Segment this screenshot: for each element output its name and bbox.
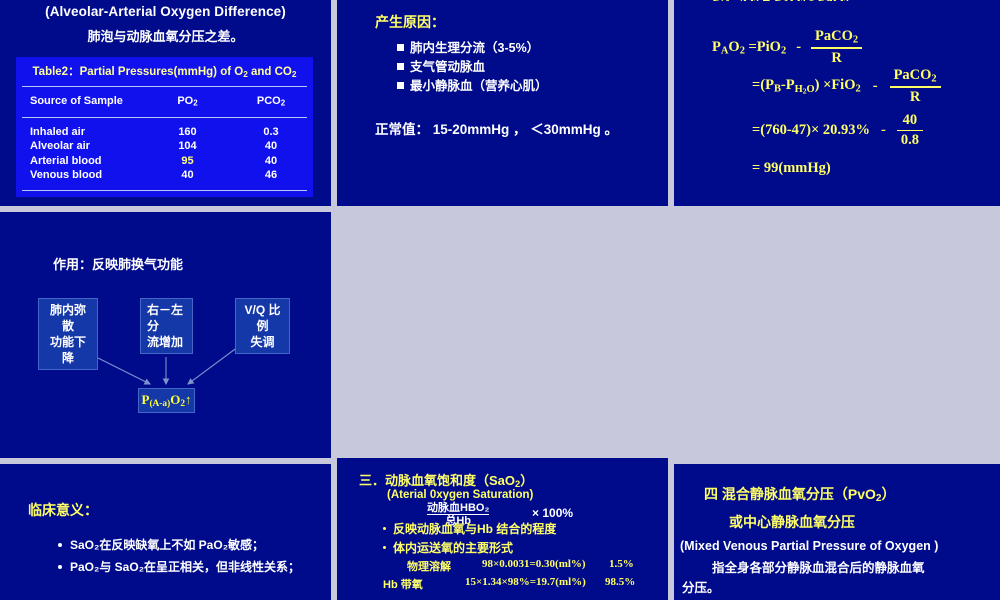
dot-bullet-icon <box>58 565 62 569</box>
sao2-bullet-1: 反映动脉血氧与Hb 结合的程度 <box>383 520 556 537</box>
list-item: PaO₂与 SaO₂在呈正相关，但非线性关系； <box>58 556 331 578</box>
dot-bullet-icon <box>58 543 62 547</box>
pvo2-heading: 四 混合静脉血氧分压（PvO2） <box>704 484 1000 504</box>
sao2-heading-en: (Aterial 0xygen Saturation) <box>387 489 533 501</box>
list-item: 最小静脉血（营养心肌） <box>397 77 668 96</box>
causes-heading: 产生原因： <box>375 12 668 32</box>
slide-pao2-formula[interactable]: P(A-a)O2 = PAO2 - PaO2 PAO2 =PiO2 - PaCO… <box>674 0 1000 206</box>
col-header-source: Source of Sample <box>16 95 146 108</box>
cell-pco2: 46 <box>229 168 313 183</box>
pvo2-definition-line2: 分压。 <box>682 577 1000 596</box>
row-label-dissolved: 物理溶解 <box>407 558 451 574</box>
normal-value-text: 正常值： 15-20mmHg ， ＜30mmHg 。 <box>375 118 668 138</box>
slide-aa-difference[interactable]: (Alveolar-Arterial Oxygen Difference) 肺泡… <box>0 0 331 206</box>
clinical-list: SaO₂在反映缺氧上不如 PaO₂敏感； PaO₂与 SaO₂在呈正相关，但非线… <box>0 534 331 578</box>
slide-sao2[interactable]: 三．动脉血氧饱和度（SaO2） (Aterial 0xygen Saturati… <box>337 458 668 600</box>
cell-source: Arterial blood <box>16 154 146 169</box>
pvo2-definition-line1: 指全身各部分静脉血混合后的静脉血氧 <box>712 559 1000 577</box>
fraction-40-08: 400.8 <box>897 112 923 149</box>
table-row: Inhaled air 160 0.3 <box>16 125 313 140</box>
flowchart-heading: 作用：反映肺换气功能 <box>53 254 183 273</box>
cell-source: Venous blood <box>16 168 146 183</box>
row-pct-hb: 98.5% <box>605 576 635 588</box>
formula-cut-line: P(A-a)O2 = PAO2 - PaO2 <box>712 0 849 1</box>
pvo2-heading-en: (Mixed Venous Partial Pressure of Oxygen… <box>680 539 1000 553</box>
table-rule-bottom <box>22 190 307 191</box>
flow-box-vq: V/Q 比例 失调 <box>235 298 290 354</box>
table-header-row: Source of Sample PO2 PCO2 <box>16 87 313 117</box>
list-item: 肺内生理分流（3-5%） <box>397 39 668 58</box>
slide-thumbnail-grid: (Alveolar-Arterial Oxygen Difference) 肺泡… <box>0 0 1000 600</box>
sao2-heading: 三．动脉血氧饱和度（SaO2） <box>359 470 533 489</box>
caption-pre: Table2：Partial Pressures(mmHg) of O <box>33 66 244 78</box>
fraction-paco2-r: PaCO2R <box>811 28 862 66</box>
formula-result: = 99(mmHg) <box>752 160 831 177</box>
table-body: Inhaled air 160 0.3 Alveolar air 104 40 … <box>16 118 313 183</box>
table-caption: Table2：Partial Pressures(mmHg) of O2 and… <box>16 57 313 86</box>
flow-box-shunt: 右－左 分 流增加 <box>140 298 193 354</box>
cell-po2: 160 <box>146 125 229 140</box>
list-item: 支气管动脉血 <box>397 58 668 77</box>
table-row: Arterial blood 95 40 <box>16 154 313 169</box>
slide-pvo2[interactable]: 四 混合静脉血氧分压（PvO2） 或中心静脉血氧分压 (Mixed Venous… <box>674 464 1000 600</box>
slide1-title-en: (Alveolar-Arterial Oxygen Difference) <box>0 4 331 19</box>
cell-po2: 104 <box>146 139 229 154</box>
sao2-times-100: × 100% <box>532 506 573 520</box>
cell-po2: 95 <box>146 154 229 169</box>
caption-sub2: 2 <box>292 70 297 79</box>
cell-source: Alveolar air <box>16 139 146 154</box>
row-label-hb: Hb 带氧 <box>383 576 423 592</box>
dot-bullet-icon <box>383 527 386 530</box>
col-header-po2: PO2 <box>146 95 229 108</box>
table-row: Venous blood 40 46 <box>16 168 313 183</box>
square-bullet-icon <box>397 82 404 89</box>
partial-pressures-table: Table2：Partial Pressures(mmHg) of O2 and… <box>16 57 313 197</box>
formula-line-2: =(PB-PH2O) ×FiO2 - PaCO2R <box>752 67 941 105</box>
square-bullet-icon <box>397 63 404 70</box>
slide-causes[interactable]: 产生原因： 肺内生理分流（3-5%） 支气管动脉血 最小静脉血（营养心肌） 正常… <box>337 0 668 206</box>
clinical-heading: 临床意义： <box>28 500 331 520</box>
col-header-pco2: PCO2 <box>229 95 313 108</box>
slide-clinical-significance[interactable]: 临床意义： SaO₂在反映缺氧上不如 PaO₂敏感； PaO₂与 SaO₂在呈正… <box>0 464 331 600</box>
cell-po2: 40 <box>146 168 229 183</box>
caption-post: and CO <box>248 66 292 78</box>
cell-source: Inhaled air <box>16 125 146 140</box>
list-item: SaO₂在反映缺氧上不如 PaO₂敏感； <box>58 534 331 556</box>
sao2-bullet-2: 体内运送氧的主要形式 <box>383 539 513 556</box>
slide-aa-function-flowchart[interactable]: 作用：反映肺换气功能 肺内弥散 功能下降 右－左 分 流增加 V/Q 比例 失调… <box>0 212 331 458</box>
causes-list: 肺内生理分流（3-5%） 支气管动脉血 最小静脉血（营养心肌） <box>397 39 668 96</box>
cell-pco2: 40 <box>229 139 313 154</box>
table-row: Alveolar air 104 40 <box>16 139 313 154</box>
cell-pco2: 0.3 <box>229 125 313 140</box>
row-value-hb: 15×1.34×98%=19.7(ml%) <box>465 576 586 588</box>
flow-box-diffusion: 肺内弥散 功能下降 <box>38 298 98 370</box>
formula-line-3: =(760-47)× 20.93% - 400.8 <box>752 112 923 149</box>
pvo2-subheading: 或中心静脉血氧分压 <box>729 512 1000 532</box>
row-pct-dissolved: 1.5% <box>609 558 634 570</box>
fraction-numerator: 动脉血HBO₂ <box>427 502 489 514</box>
cell-pco2: 40 <box>229 154 313 169</box>
fraction-paco2-r-2: PaCO2R <box>890 67 941 105</box>
formula-line-1: PAO2 =PiO2 - PaCO2R <box>712 28 862 66</box>
slide1-title-cn: 肺泡与动脉血氧分压之差。 <box>0 26 331 45</box>
row-value-dissolved: 98×0.0031=0.30(ml%) <box>482 558 586 570</box>
dot-bullet-icon <box>383 546 386 549</box>
flow-box-result: P(A-a)O2↑ <box>138 388 195 413</box>
square-bullet-icon <box>397 44 404 51</box>
